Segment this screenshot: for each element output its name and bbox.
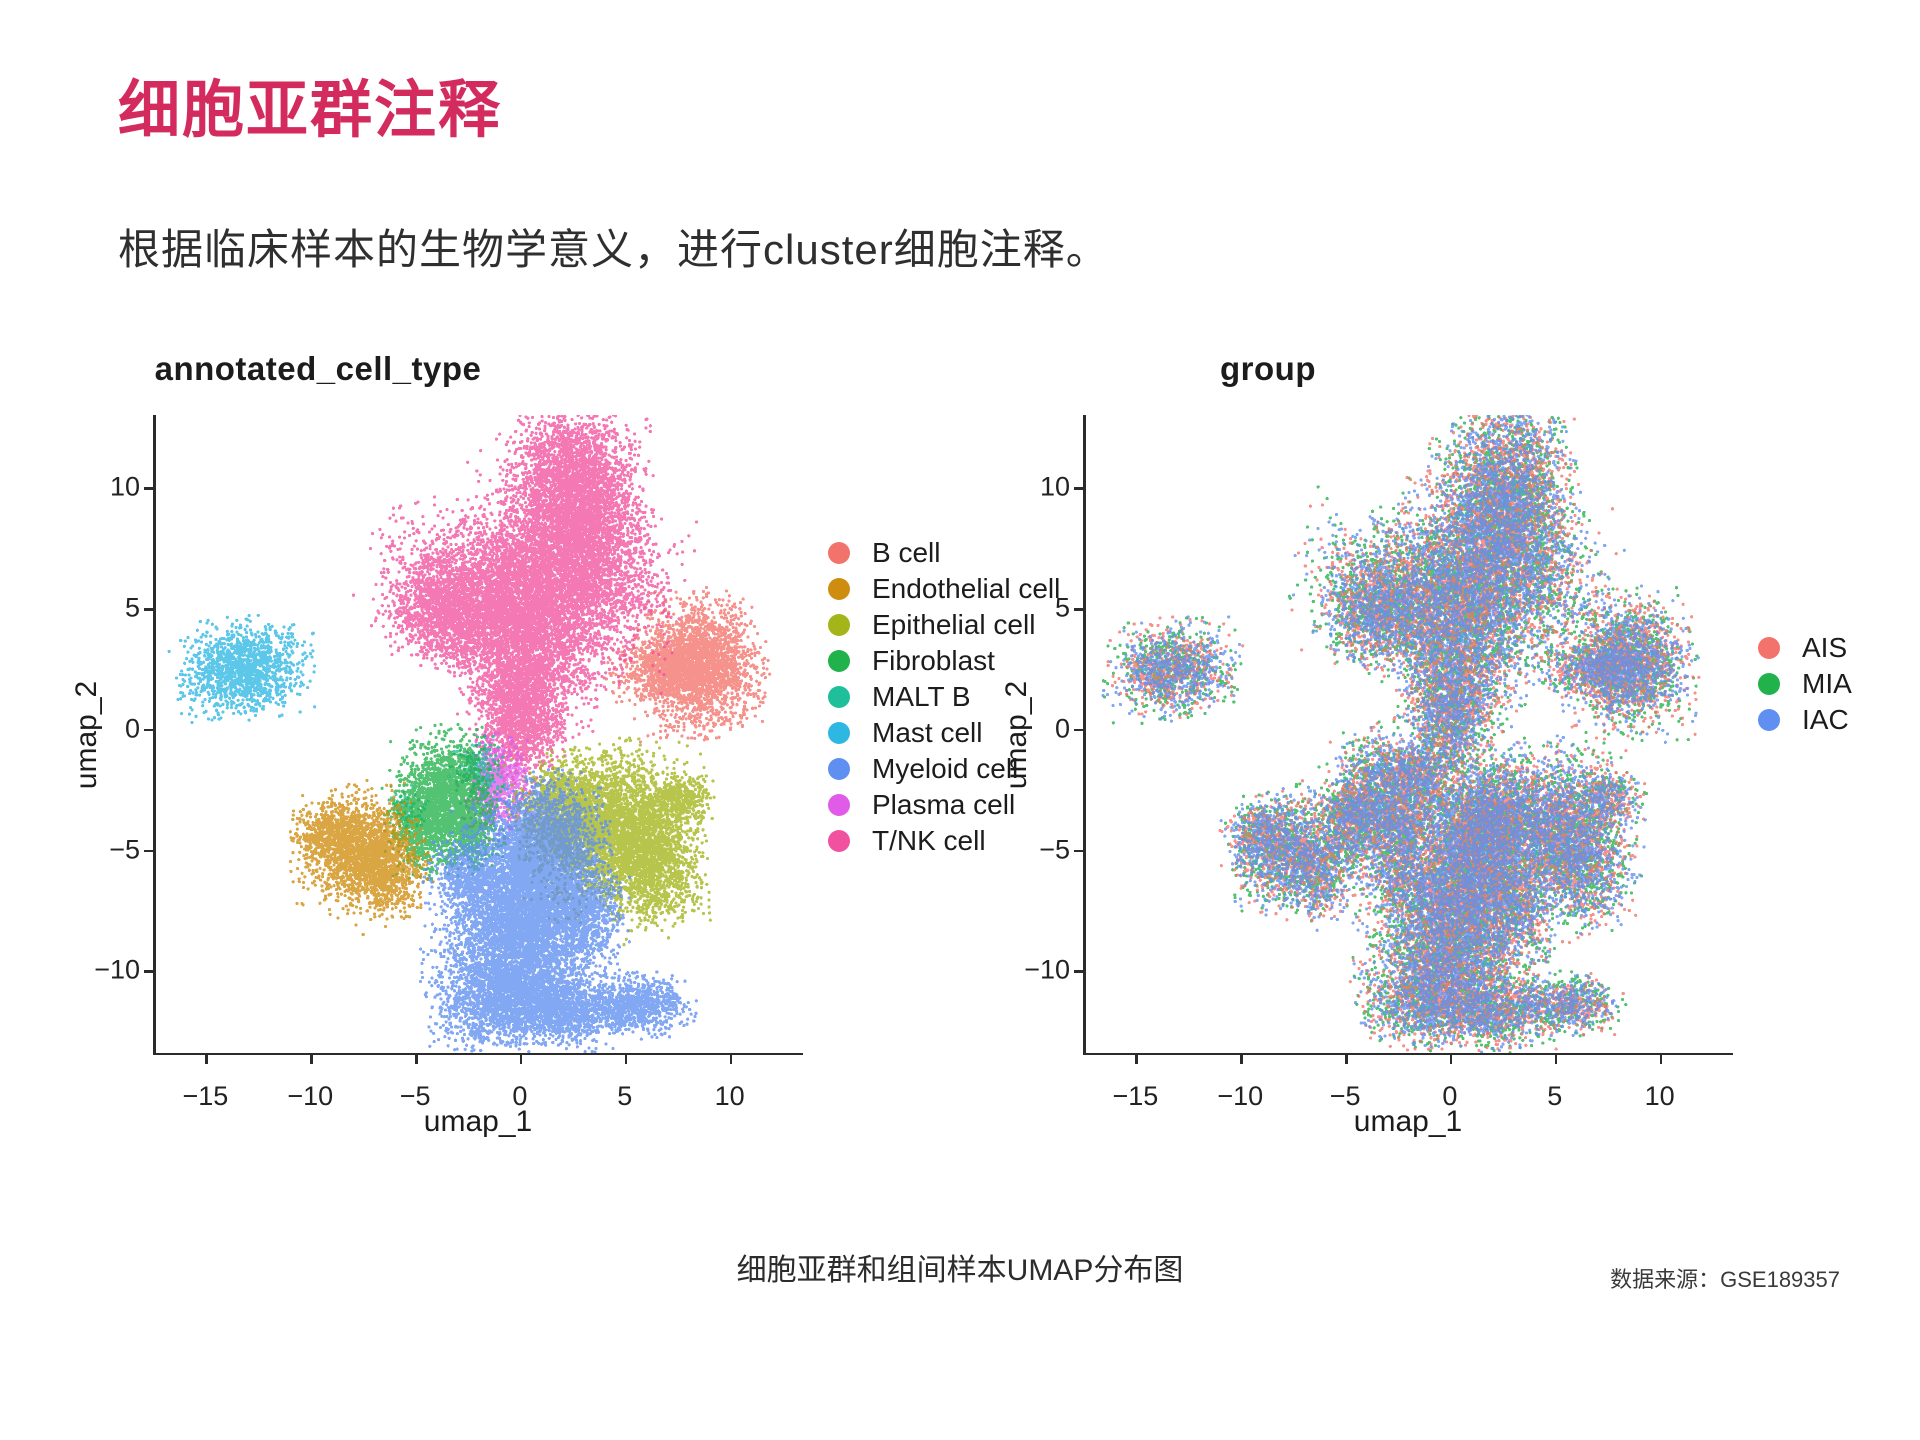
y-tick (1074, 487, 1083, 490)
data-source-note: 数据来源：GSE189357 (1610, 1262, 1840, 1294)
x-tick (1450, 1055, 1453, 1064)
x-tick (1135, 1055, 1138, 1064)
legend-color-swatch-icon (828, 794, 850, 816)
legend-label: IAC (1802, 704, 1849, 736)
x-tick (1345, 1055, 1348, 1064)
legend-color-swatch-icon (828, 830, 850, 852)
panel-annotated-cell-type: annotated_cell_type umap_1 −15−10−505101… (28, 340, 968, 1240)
legend-color-swatch-icon (828, 722, 850, 744)
y-tick (144, 970, 153, 973)
y-tick-label: 5 (1055, 593, 1070, 624)
y-tick (144, 487, 153, 490)
y-axis-title-right: umap_2 (1000, 681, 1034, 789)
x-tick-label: 0 (512, 1081, 527, 1112)
y-tick-label: −5 (109, 834, 140, 865)
legend-color-swatch-icon (1758, 709, 1780, 731)
legend-color-swatch-icon (828, 650, 850, 672)
y-axis-title-left: umap_2 (70, 681, 104, 789)
legend-color-swatch-icon (1758, 637, 1780, 659)
y-tick (1074, 850, 1083, 853)
legend-label: MIA (1802, 668, 1852, 700)
legend-group-item[interactable]: MIA (1758, 666, 1852, 702)
y-tick (144, 608, 153, 611)
y-tick (1074, 608, 1083, 611)
x-tick-label: 5 (1547, 1081, 1562, 1112)
legend-group-item[interactable]: AIS (1758, 630, 1852, 666)
y-tick-label: −10 (1024, 955, 1070, 986)
scatter-plot-annotated-cell-type: umap_1 −15−10−505101050−5−10 (153, 415, 803, 1055)
page-subtitle: 根据临床样本的生物学意义，进行cluster细胞注释。 (118, 225, 1109, 275)
slide-root: 细胞亚群注释 根据临床样本的生物学意义，进行cluster细胞注释。 annot… (0, 0, 1920, 1440)
y-tick (144, 729, 153, 732)
x-tick-label: 10 (715, 1081, 745, 1112)
legend-label: MALT B (872, 681, 971, 713)
x-tick (730, 1055, 733, 1064)
x-tick-label: −15 (1113, 1081, 1159, 1112)
x-tick (310, 1055, 313, 1064)
x-tick-label: −5 (400, 1081, 431, 1112)
scatter-points-group (1085, 415, 1733, 1053)
legend-color-swatch-icon (828, 614, 850, 636)
legend-group[interactable]: AISMIAIAC (1758, 630, 1852, 738)
x-tick (1555, 1055, 1558, 1064)
y-tick-label: −10 (94, 955, 140, 986)
legend-color-swatch-icon (828, 578, 850, 600)
figure-area: annotated_cell_type umap_1 −15−10−505101… (28, 340, 1892, 1240)
y-tick-label: 10 (1040, 472, 1070, 503)
y-tick-label: 10 (110, 472, 140, 503)
x-tick (1240, 1055, 1243, 1064)
y-tick (1074, 729, 1083, 732)
panel-title-group: group (818, 350, 1718, 388)
legend-color-swatch-icon (1758, 673, 1780, 695)
x-tick-label: 0 (1442, 1081, 1457, 1112)
scatter-points-annotated-cell-type (155, 415, 803, 1053)
x-tick-label: −15 (183, 1081, 229, 1112)
y-tick (144, 850, 153, 853)
x-tick (1660, 1055, 1663, 1064)
x-tick-label: −5 (1330, 1081, 1361, 1112)
y-tick-label: −5 (1039, 834, 1070, 865)
panel-group: group umap_1 −15−10−505101050−5−10 umap_… (968, 340, 1892, 1240)
legend-group-item[interactable]: IAC (1758, 702, 1852, 738)
x-tick-label: 5 (617, 1081, 632, 1112)
legend-color-swatch-icon (828, 542, 850, 564)
x-tick (415, 1055, 418, 1064)
x-tick (625, 1055, 628, 1064)
legend-color-swatch-icon (828, 758, 850, 780)
legend-label: B cell (872, 537, 940, 569)
x-tick (520, 1055, 523, 1064)
x-tick-label: −10 (1217, 1081, 1263, 1112)
x-tick-label: 10 (1645, 1081, 1675, 1112)
y-tick-label: 0 (1055, 713, 1070, 744)
scatter-plot-group: umap_1 −15−10−505101050−5−10 (1083, 415, 1733, 1055)
legend-label: Mast cell (872, 717, 982, 749)
x-tick (205, 1055, 208, 1064)
page-title: 细胞亚群注释 (118, 78, 502, 143)
y-tick (1074, 970, 1083, 973)
legend-color-swatch-icon (828, 686, 850, 708)
y-tick-label: 0 (125, 713, 140, 744)
legend-label: AIS (1802, 632, 1847, 664)
panel-title-annotated-cell-type: annotated_cell_type (0, 350, 788, 388)
y-tick-label: 5 (125, 593, 140, 624)
x-tick-label: −10 (287, 1081, 333, 1112)
